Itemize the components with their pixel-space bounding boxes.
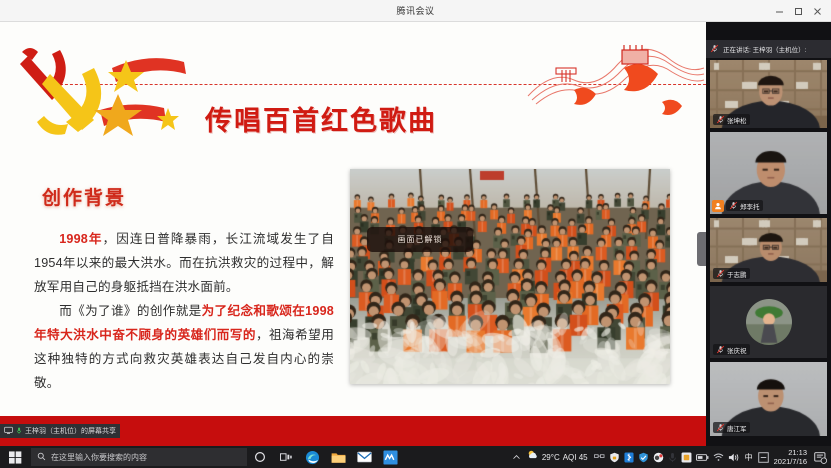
minimize-button[interactable] (770, 0, 789, 22)
participant-label: 唐江军 (713, 422, 750, 433)
system-tray: 29°C AQI 45 (510, 446, 831, 468)
notification-icon[interactable] (812, 446, 829, 468)
great-wall-illustration (526, 24, 706, 134)
active-speaker-name: 正在讲话: 王梓羽（主机位）: (723, 44, 806, 54)
screen-share-indicator[interactable]: 王梓羽（主机位）的屏幕共享 (0, 424, 120, 438)
participant-label: 于志鹏 (713, 268, 750, 279)
participant-label: 张庆祝 (713, 344, 750, 355)
meeting-window-body: 传唱百首红色歌曲 创作背景 1998年，因连日普降暴雨，长江流域发生了自1954… (0, 22, 831, 446)
mail-icon[interactable] (351, 446, 377, 468)
mic-muted-icon (716, 111, 725, 129)
search-input[interactable]: 在这里输入你要搜索的内容 (31, 448, 247, 466)
windows-taskbar: 在这里输入你要搜索的内容 (0, 446, 831, 468)
chevron-up-icon[interactable] (510, 446, 523, 468)
paragraph-2-pre: 而《为了谁》的创作就是 (59, 304, 201, 318)
participant-tile[interactable]: 张坤松 (710, 60, 827, 128)
app-icon[interactable] (651, 446, 666, 468)
slide-body-text: 1998年，因连日普降暴雨，长江流域发生了自1954年以来的最大洪水。而在抗洪救… (34, 227, 334, 395)
screenshot-icon[interactable] (679, 446, 694, 468)
battery-icon[interactable] (694, 446, 711, 468)
volume-icon[interactable] (726, 446, 742, 468)
windows-start-icon[interactable] (0, 446, 30, 468)
slide-title: 传唱百首红色歌曲 (205, 108, 437, 135)
window-title-bar: 腾讯会议 (0, 0, 831, 22)
avatar (746, 299, 792, 345)
wps-icon[interactable] (377, 446, 403, 468)
participant-name: 唐江军 (727, 423, 747, 433)
participant-tile[interactable]: 唐江军 (710, 362, 827, 436)
participant-tile[interactable]: 张庆祝 (710, 286, 827, 358)
participant-tile[interactable]: 郑李托 (710, 132, 827, 214)
mic-muted-icon (716, 419, 725, 437)
network-icon[interactable] (592, 446, 607, 468)
presentation-slide: 传唱百首红色歌曲 创作背景 1998年，因连日普降暴雨，长江流域发生了自1954… (0, 22, 706, 446)
screen-share-text: 王梓羽（主机位）的屏幕共享 (25, 426, 116, 436)
participant-name: 张坤松 (727, 115, 747, 125)
maximize-button[interactable] (789, 0, 808, 22)
window-title: 腾讯会议 (396, 4, 434, 17)
mic-muted-icon (716, 265, 725, 283)
participant-label: 张坤松 (713, 114, 750, 125)
task-view-icon[interactable] (273, 446, 299, 468)
sun-cloud-icon (527, 448, 539, 466)
participant-name: 于志鹏 (727, 269, 747, 279)
taskbar-clock[interactable]: 21:13 2021/7/16 (771, 448, 812, 466)
participant-name: 郑李托 (740, 201, 760, 211)
search-placeholder: 在这里输入你要搜索的内容 (51, 452, 147, 463)
participant-tile[interactable]: 于志鹏 (710, 218, 827, 282)
clock-time: 21:13 (788, 448, 807, 457)
edge-icon[interactable] (299, 446, 325, 468)
weather-temperature: 29°C (542, 453, 560, 462)
active-speaker-bar: 正在讲话: 王梓羽（主机位）: (706, 40, 831, 58)
mic-green-icon (15, 422, 23, 440)
slide-paragraph-1: 1998年，因连日普降暴雨，长江流域发生了自1954年以来的最大洪水。而在抗洪救… (34, 227, 334, 299)
panel-collapse-handle[interactable] (697, 232, 706, 266)
ime-mode-icon[interactable] (756, 446, 771, 468)
weather-widget[interactable]: 29°C AQI 45 (523, 448, 592, 466)
file-explorer-icon[interactable] (325, 446, 351, 468)
mic-muted-icon (710, 40, 719, 58)
participant-rail: 正在讲话: 王梓羽（主机位）: 张坤松郑李托于志鹏张庆祝唐江军 (706, 22, 831, 446)
defender-icon[interactable] (636, 446, 651, 468)
ime-language-indicator[interactable]: 中 (742, 452, 756, 463)
mic-muted-icon (729, 197, 738, 215)
weather-aqi: AQI 45 (563, 453, 588, 462)
wifi-icon[interactable] (711, 446, 726, 468)
party-emblem-icon (8, 34, 198, 140)
close-button[interactable] (808, 0, 827, 22)
mic-icon[interactable] (666, 446, 679, 468)
window-controls (770, 0, 827, 22)
flood-rescue-photo: 画面已解锁 (350, 169, 670, 384)
slide-paragraph-2: 而《为了谁》的创作就是为了纪念和歌颂在1998年特大洪水中奋不顾身的英雄们而写的… (34, 299, 334, 395)
security-shield-icon[interactable] (607, 446, 622, 468)
participant-name: 张庆祝 (727, 345, 747, 355)
shared-screen-stage: 传唱百首红色歌曲 创作背景 1998年，因连日普降暴雨，长江流域发生了自1954… (0, 22, 706, 446)
screen-unlocked-toast: 画面已解锁 (367, 227, 473, 252)
clock-date: 2021/7/16 (774, 457, 807, 466)
bluetooth-icon[interactable] (622, 446, 636, 468)
highlight-year: 1998年 (59, 232, 102, 246)
mic-muted-icon (716, 341, 725, 359)
search-icon (37, 448, 46, 466)
screen-unlocked-text: 画面已解锁 (398, 234, 443, 245)
cortana-icon[interactable] (247, 446, 273, 468)
monitor-icon (4, 422, 13, 440)
participant-label: 郑李托 (726, 200, 763, 211)
host-badge (712, 200, 724, 212)
slide-section-heading: 创作背景 (42, 183, 126, 210)
